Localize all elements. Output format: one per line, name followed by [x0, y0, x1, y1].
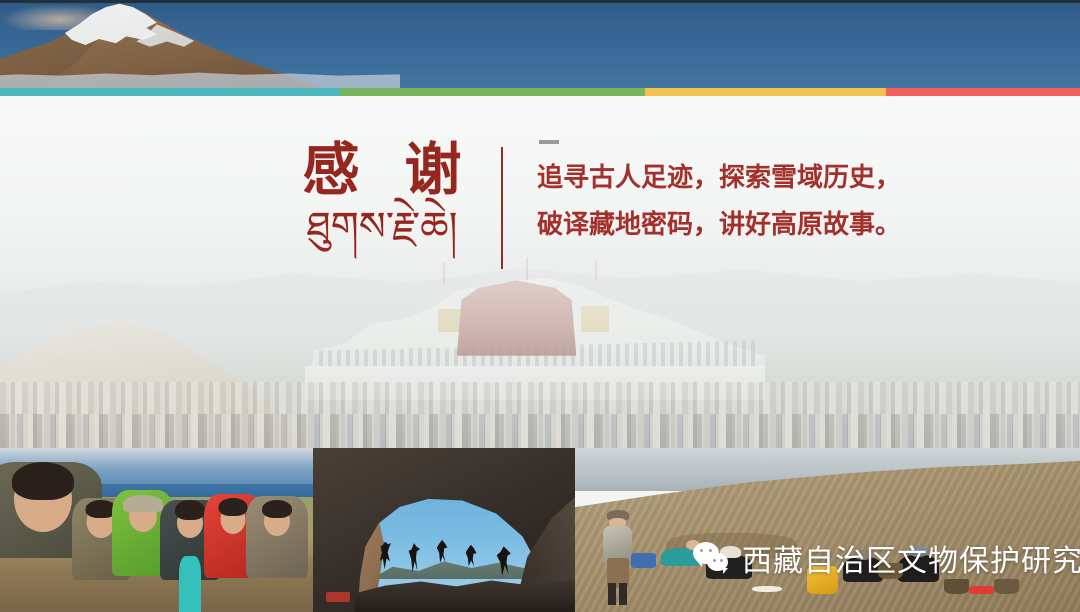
excavation-site-photo: [575, 448, 1080, 612]
wechat-icon: [693, 542, 733, 574]
stripe-segment-teal: [0, 88, 340, 96]
vertical-divider-rule: [501, 147, 503, 269]
wechat-eye-4: [720, 559, 723, 562]
mountain-sky-banner: [0, 0, 1080, 88]
palace-gold-roof-right: [581, 306, 609, 332]
thanks-tibetan: ཐུགས་རྗེ་ཆེ།: [276, 204, 488, 251]
wechat-eye-1: [700, 549, 703, 552]
p3-worker-leg-right: [619, 583, 627, 606]
potala-palace-backdrop: [0, 96, 1080, 448]
motto-block: 追寻古人足迹，探索雪域历史， 破译藏地密码，讲好高原故事。: [537, 155, 967, 250]
wechat-tail-small: [723, 568, 728, 574]
wechat-eye-2: [709, 549, 712, 552]
p1-person-4-inner: [179, 556, 201, 612]
lhasa-city-band-near: [0, 414, 1080, 448]
dash-marker: [539, 140, 559, 144]
motto-line-2: 破译藏地密码，讲好高原故事。: [537, 202, 967, 249]
photo-strip: [0, 448, 1080, 612]
p3-basket-3: [994, 579, 1019, 594]
palace-flagpole-1: [443, 262, 445, 283]
wechat-eye-3: [713, 559, 716, 562]
stripe-segment-yellow: [645, 88, 886, 96]
p2-red-gear: [326, 592, 350, 602]
motto-line-1: 追寻古人足迹，探索雪域历史，: [537, 155, 967, 202]
palace-flagpole-2: [526, 257, 528, 280]
stripe-segment-green: [340, 88, 645, 96]
p3-white-tray: [752, 586, 782, 593]
thanks-chinese: 感 谢: [276, 140, 488, 200]
p3-basket-2: [944, 579, 969, 594]
p1-person-6: [246, 496, 308, 612]
banner-top-edge: [0, 0, 1080, 3]
p3-worker-leg-left: [608, 583, 616, 606]
p1-person-1-hair: [12, 462, 74, 500]
p1-person-3-hat: [123, 495, 163, 512]
p3-red-dustpan: [969, 586, 994, 594]
accent-stripe: [0, 88, 1080, 96]
palace-red-palace: [457, 280, 577, 355]
wechat-tail-large: [696, 560, 702, 567]
p1-person-6-hair: [262, 500, 292, 518]
p1-person-5-hair: [219, 498, 248, 516]
closing-slide: 感 谢 ཐུགས་རྗེ་ཆེ། 追寻古人足迹，探索雪域历史， 破译藏地密码，讲…: [0, 0, 1080, 612]
palace-gold-roof-left: [438, 309, 461, 332]
thank-you-block: 感 谢 ཐུགས་རྗེ་ཆེ།: [276, 140, 488, 252]
palace-flagpole-3: [595, 261, 597, 281]
field-team-group-photo: [0, 448, 313, 612]
wechat-watermark: 西藏自治区文物保护研究所: [693, 538, 1080, 578]
watermark-text: 西藏自治区文物保护研究所: [742, 536, 1080, 580]
potala-palace: [305, 270, 765, 400]
p1-person-4-hair: [175, 500, 205, 520]
cave-silhouette-photo: [313, 448, 575, 612]
p3-blue-backpack: [631, 553, 656, 568]
stripe-segment-red: [886, 88, 1080, 96]
